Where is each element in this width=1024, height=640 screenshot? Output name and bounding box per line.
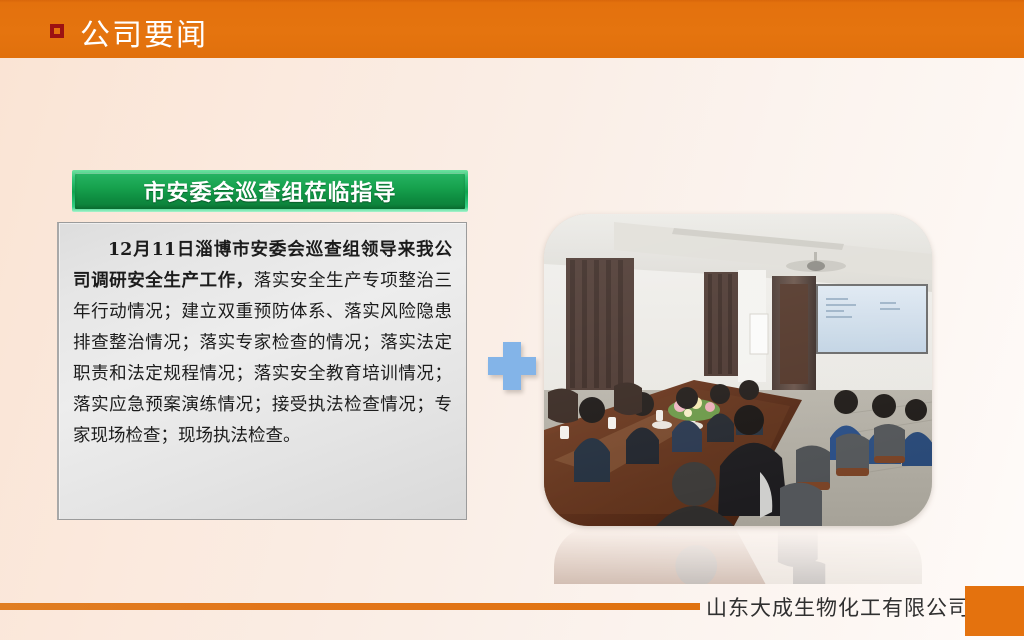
meeting-room-photo — [544, 214, 932, 526]
photo-reflection — [554, 526, 922, 584]
footer-rule — [0, 603, 700, 610]
square-bullet-icon — [50, 24, 64, 38]
article-body: 12月11日淄博市安委会巡查组领导来我公司调研安全生产工作，落实安全生产专项整治… — [73, 235, 452, 452]
article-textbox: 12月11日淄博市安委会巡查组领导来我公司调研安全生产工作，落实安全生产专项整治… — [57, 222, 467, 520]
article-body-rest: 落实安全生产专项整治三年行动情况；建立双重预防体系、落实风险隐患排查整治情况；落… — [73, 271, 452, 446]
section-banner-title: 市安委会巡查组莅临指导 — [143, 175, 396, 207]
slide-canvas: 公司要闻 市安委会巡查组莅临指导 12月11日淄博市安委会巡查组领导来我公司调研… — [0, 0, 1024, 640]
page-title: 公司要闻 — [80, 10, 208, 54]
footer-accent-block — [965, 586, 1024, 636]
header-bar: 公司要闻 — [0, 0, 1024, 58]
blue-cross-icon — [487, 340, 537, 392]
section-banner-inner: 市安委会巡查组莅临指导 — [75, 173, 465, 209]
photo-container — [544, 214, 932, 526]
section-banner: 市安委会巡查组莅临指导 — [72, 170, 468, 212]
footer-company-name: 山东大成生物化工有限公司 — [706, 592, 970, 622]
